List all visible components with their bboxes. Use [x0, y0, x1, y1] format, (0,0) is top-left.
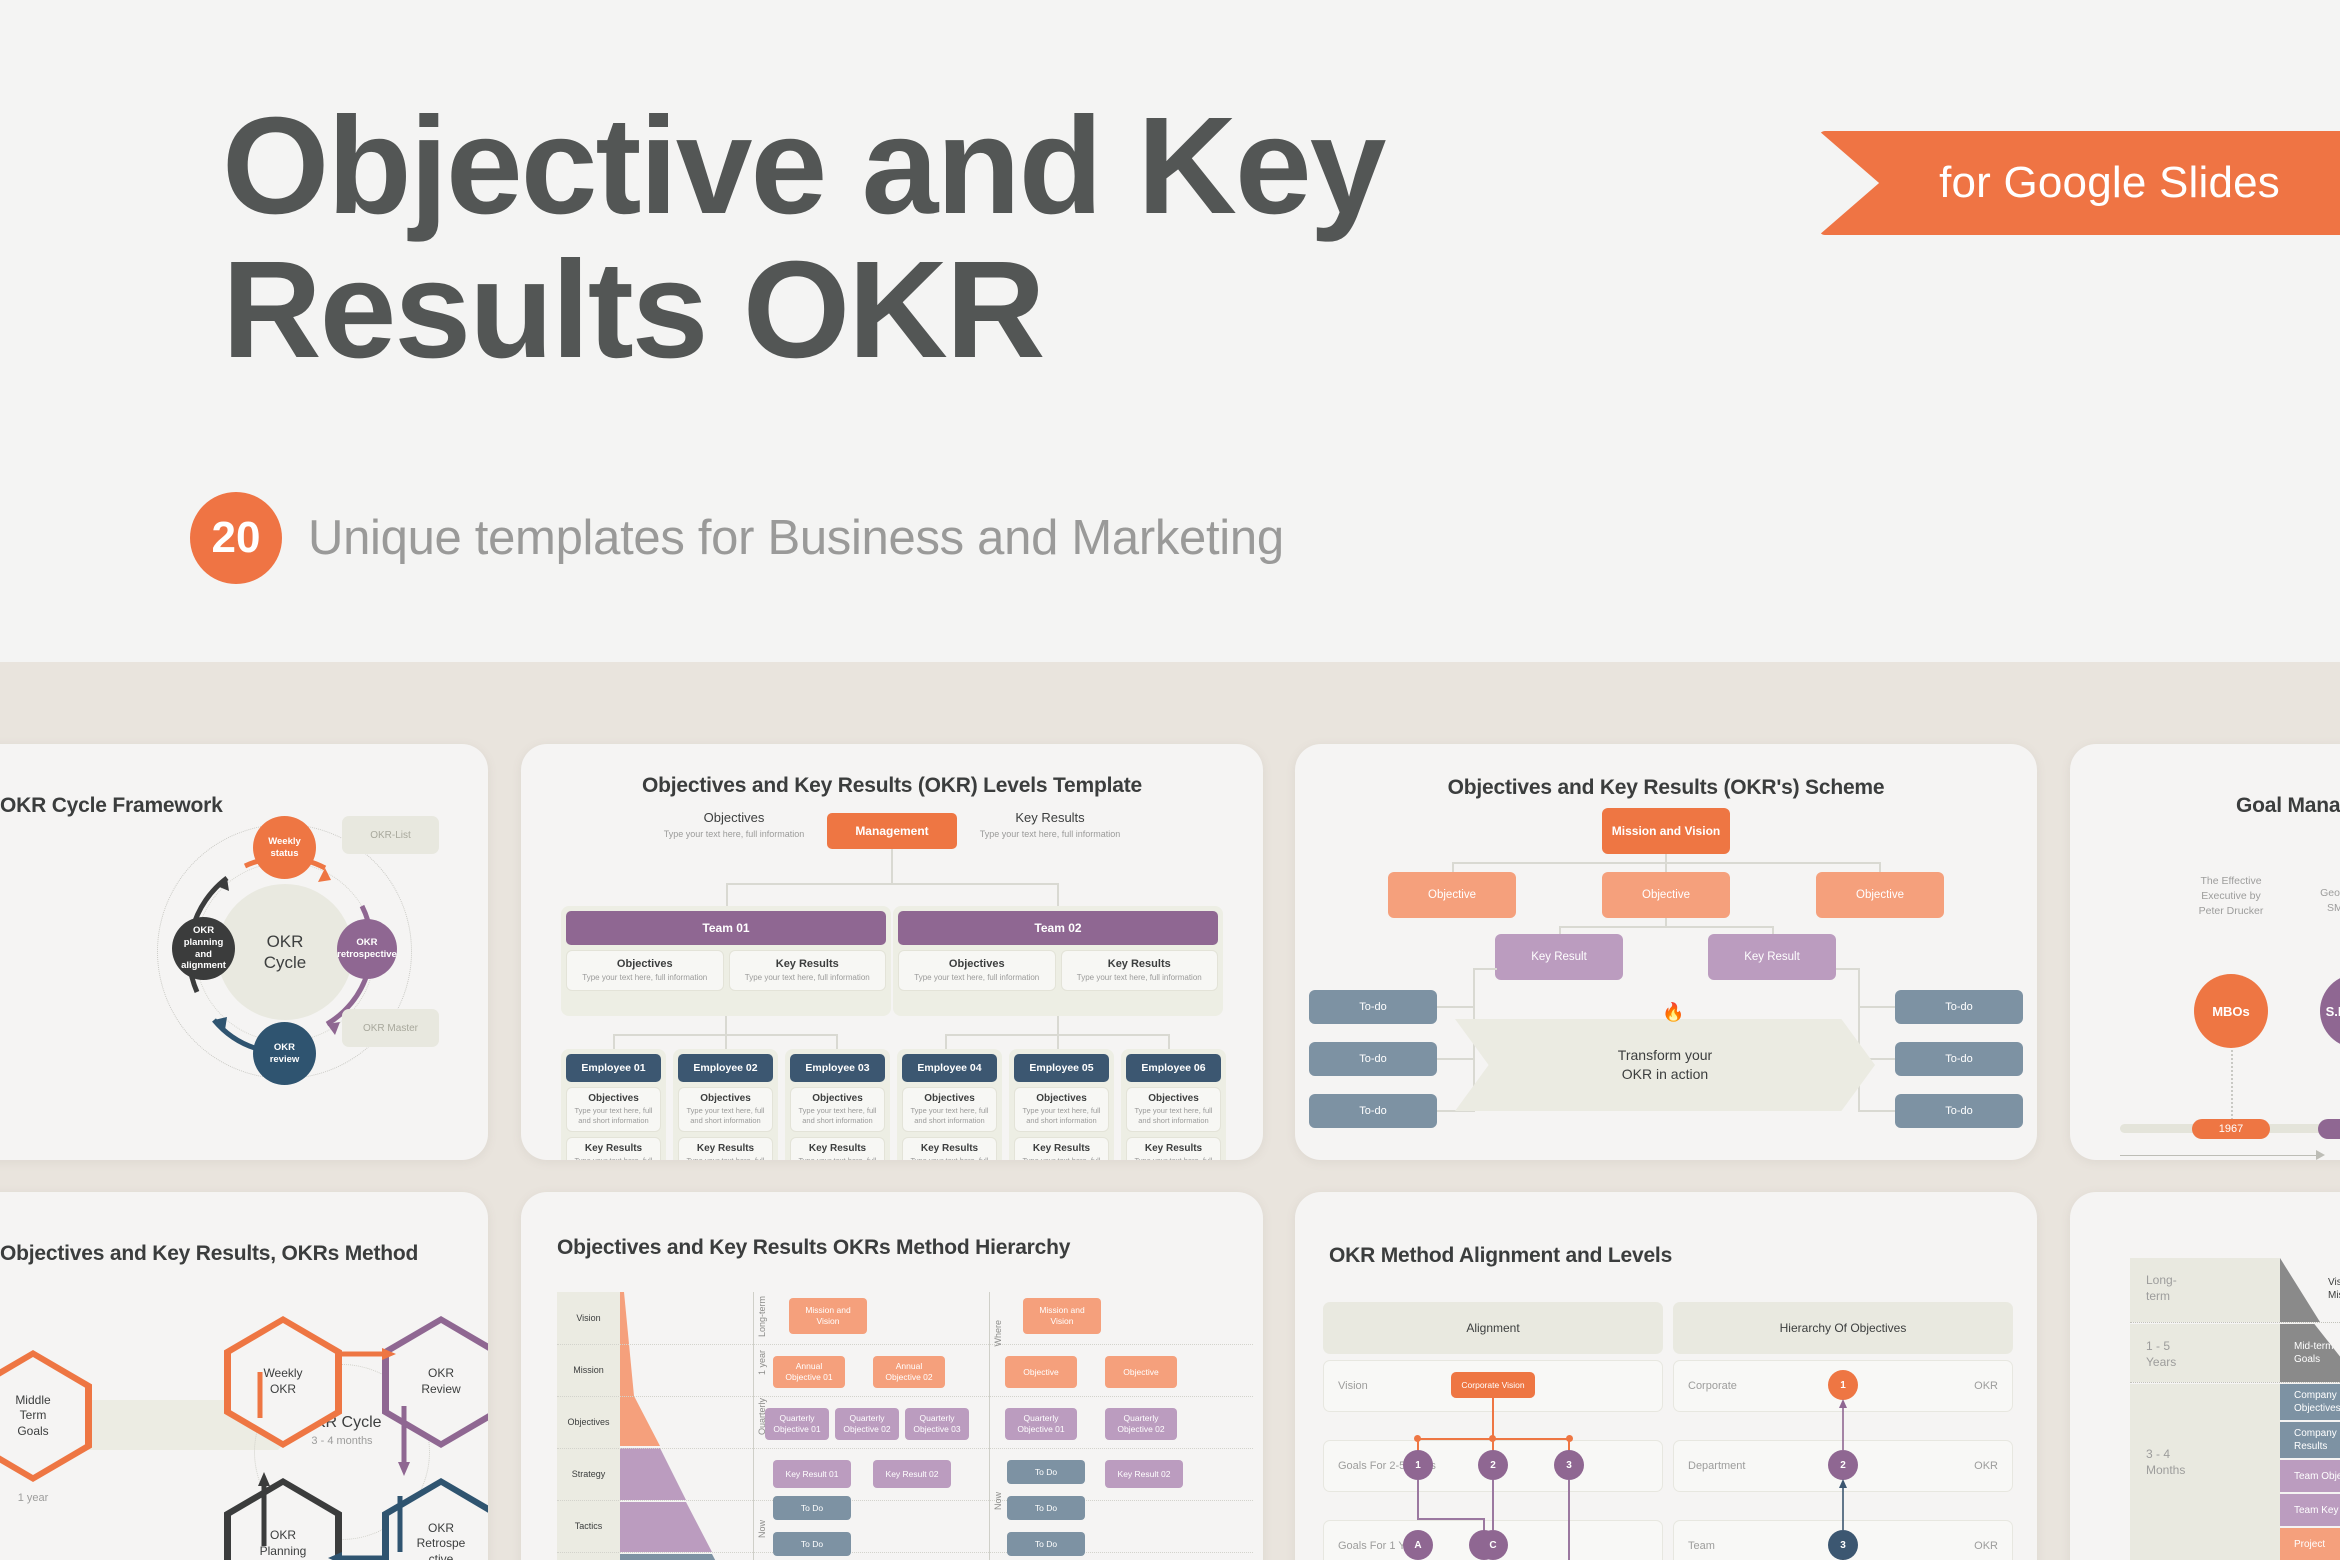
cycle-arrows	[214, 1310, 454, 1560]
team-cell: Objectives Type your text here, full inf…	[566, 950, 724, 991]
pyramid-timeframe-1-5-years: 1 - 5Years	[2130, 1324, 2280, 1382]
axis-right	[989, 1292, 990, 1560]
employee-block[interactable]: Employee 04 ObjectivesType your text her…	[897, 1049, 1002, 1160]
connector-line	[1879, 862, 1881, 872]
cell-sub: Type your text here, full and short info…	[795, 1106, 880, 1126]
connector-line	[1057, 1016, 1059, 1034]
side-heading: Objectives	[639, 810, 829, 825]
node-todo-left-2[interactable]: To-do	[1309, 1042, 1437, 1076]
employee-cell-objectives: ObjectivesType your text here, full and …	[566, 1087, 661, 1132]
employee-cell-key-results: Key ResultsType your text here, full and…	[678, 1137, 773, 1161]
subtitle-row: 20 Unique templates for Business and Mar…	[190, 492, 1284, 584]
employee-cell-key-results: Key ResultsType your text here, full and…	[566, 1137, 661, 1161]
connector-line	[891, 849, 893, 883]
cycle-node-weekly-status[interactable]: Weeklystatus	[253, 816, 316, 879]
connector-line	[725, 1034, 727, 1049]
connector-line	[1057, 1034, 1059, 1049]
slide-card-goal-management-history[interactable]: Goal Management History and Timeline The…	[2070, 744, 2340, 1160]
employee-header: Employee 06	[1126, 1054, 1221, 1082]
slide-card-okrs-method[interactable]: Objectives and Key Results, OKRs Method …	[0, 1192, 488, 1560]
pyramid-timeframe-3-4-months: 3 - 4Months	[2130, 1384, 2280, 1560]
subtitle-text: Unique templates for Business and Market…	[308, 510, 1284, 566]
node-key-result-02-b[interactable]: Key Result 02	[1105, 1460, 1183, 1488]
cell-sub: Type your text here, full information	[734, 973, 882, 983]
cell-heading: Objectives	[1131, 1093, 1216, 1104]
node-todo-b-3[interactable]: To Do	[1007, 1532, 1085, 1556]
connector-line	[1492, 1480, 1494, 1530]
cell-heading: Objectives	[1019, 1093, 1104, 1104]
row-tag: OKR	[1974, 1460, 1998, 1472]
card-title: Goal Management History and Timeline	[2236, 794, 2340, 818]
hierarchy-level-tactics: Tactics	[557, 1500, 620, 1552]
node-key-result-1[interactable]: Key Result	[1495, 934, 1623, 980]
axis-left	[753, 1292, 754, 1560]
node-objective-b-2[interactable]: Objective	[1105, 1356, 1177, 1388]
node-corporate-vision[interactable]: Corporate Vision	[1451, 1372, 1535, 1398]
employee-header: Employee 03	[790, 1054, 885, 1082]
history-bubble-mbos[interactable]: MBOs	[2194, 974, 2268, 1048]
connector-line	[725, 1016, 727, 1034]
pyramid-band-team-objectives: Team Objectives	[2280, 1460, 2340, 1492]
history-caption-1: The EffectiveExecutive byPeter Drucker	[2176, 874, 2286, 920]
side-sub: Type your text here, full information	[955, 829, 1145, 839]
cell-heading: Objectives	[907, 1093, 992, 1104]
employee-block[interactable]: Employee 05 ObjectivesType your text her…	[1009, 1049, 1114, 1160]
timeline-year-1981: 1981	[2318, 1119, 2340, 1139]
connector-line	[1437, 1006, 1475, 1008]
connector-line	[726, 883, 1058, 885]
slide-card-okr-levels-template[interactable]: Objectives and Key Results (OKR) Levels …	[521, 744, 1263, 1160]
row-label: Department	[1688, 1460, 1745, 1472]
cell-heading: Key Results	[1066, 958, 1214, 970]
connector-line	[1858, 968, 1860, 1112]
arrow-right-icon	[2316, 1150, 2325, 1160]
team-cell: Key Results Type your text here, full in…	[729, 950, 887, 991]
card-title: Objectives and Key Results (OKR's) Schem…	[1295, 776, 2037, 800]
node-annual-objective-02[interactable]: AnnualObjective 02	[873, 1356, 945, 1388]
connector-line	[1772, 926, 1774, 934]
employee-header: Employee 05	[1014, 1054, 1109, 1082]
node-annual-objective-01[interactable]: AnnualObjective 01	[773, 1356, 845, 1388]
node-quarterly-objective-02-b[interactable]: QuarterlyObjective 02	[1105, 1408, 1177, 1440]
history-bubble-smart[interactable]: S.M.A.R.T.	[2320, 974, 2340, 1048]
page-title-line-1: Objective and Key	[222, 95, 1472, 239]
node-todo-b-1[interactable]: To Do	[1007, 1460, 1085, 1484]
page-title-line-2: Results OKR	[222, 239, 1472, 383]
cell-sub: Type your text here, full and short info…	[1131, 1106, 1216, 1126]
year-node-a[interactable]: A	[1403, 1530, 1433, 1560]
hierarchy-arrows	[1835, 1392, 1855, 1560]
employee-cell-key-results: Key ResultsType your text here, full and…	[1126, 1137, 1221, 1161]
cell-sub: Type your text here, full and short info…	[571, 1106, 656, 1126]
employee-header: Employee 02	[678, 1054, 773, 1082]
cell-heading: Key Results	[1131, 1143, 1216, 1154]
node-quarterly-objective-01-b[interactable]: QuarterlyObjective 01	[1005, 1408, 1077, 1440]
node-todo-left-1[interactable]: To-do	[1309, 990, 1437, 1024]
team-header: Team 02	[898, 911, 1218, 945]
google-slides-ribbon-badge: for Google Slides	[1819, 131, 2340, 235]
template-gallery: OKR Cycle Framework Mid-term goals1 year…	[0, 662, 2340, 1560]
connector-line	[1417, 1518, 1485, 1520]
node-objective-b-1[interactable]: Objective	[1005, 1356, 1077, 1388]
cell-heading: Objectives	[683, 1093, 768, 1104]
divider	[557, 1448, 1253, 1449]
node-todo-left-3[interactable]: To-do	[1309, 1094, 1437, 1128]
cycle-node-okr-retrospective[interactable]: OKRretrospective	[337, 919, 397, 979]
connector-line	[1168, 1034, 1170, 1049]
cell-sub: Type your text here, full and short info…	[1131, 1156, 1216, 1161]
node-objective-1[interactable]: Objective	[1388, 872, 1516, 918]
cell-heading: Key Results	[1019, 1143, 1104, 1154]
connector-line	[1858, 1006, 1896, 1008]
side-label-key-results: Key Results Type your text here, full in…	[955, 810, 1145, 839]
node-todo-right-1[interactable]: To-do	[1895, 990, 2023, 1024]
cell-heading: Key Results	[795, 1143, 880, 1154]
cell-sub: Type your text here, full and short info…	[907, 1106, 992, 1126]
card-title: OKR Method Alignment and Levels	[1329, 1244, 1672, 1268]
employee-cell-objectives: ObjectivesType your text here, full and …	[790, 1087, 885, 1132]
divider	[2130, 1322, 2340, 1323]
hierarchy-level-strategy: Strategy	[557, 1448, 620, 1500]
ribbon-label: for Google Slides	[1939, 158, 2280, 208]
node-todo-a-2[interactable]: To Do	[773, 1532, 851, 1556]
node-key-result-02-a[interactable]: Key Result 02	[873, 1460, 951, 1488]
employee-block[interactable]: Employee 02 ObjectivesType your text her…	[673, 1049, 778, 1160]
side-label-objectives: Objectives Type your text here, full inf…	[639, 810, 829, 839]
node-quarterly-objective-01-a[interactable]: QuarterlyObjective 01	[765, 1408, 829, 1440]
employee-cell-objectives: ObjectivesType your text here, full and …	[1014, 1087, 1109, 1132]
cell-sub: Type your text here, full and short info…	[683, 1106, 768, 1126]
connector-line	[836, 1034, 838, 1049]
connector-dotted	[2231, 1050, 2233, 1128]
connector-line	[1665, 918, 1667, 926]
pyramid-timeframe-long-term: Long-term	[2130, 1258, 2280, 1322]
node-todo-right-3[interactable]: To-do	[1895, 1094, 2023, 1128]
pyramid-band-company-key-results: Company KeyResults	[2280, 1422, 2340, 1458]
cell-heading: Objectives	[903, 958, 1051, 970]
cell-heading: Objectives	[795, 1093, 880, 1104]
cell-sub: Type your text here, full and short info…	[907, 1156, 992, 1161]
hierarchy-level-vision: Vision	[557, 1292, 620, 1344]
team-cell: Objectives Type your text here, full inf…	[898, 950, 1056, 991]
hierarchy-level-objectives: Objectives	[557, 1396, 620, 1448]
node-mission-and-vision[interactable]: Mission and Vision	[1602, 808, 1730, 854]
team-header: Team 01	[566, 911, 886, 945]
connector-line	[1417, 1480, 1419, 1520]
connector-line	[726, 883, 728, 907]
employee-header: Employee 01	[566, 1054, 661, 1082]
connector-line	[1665, 854, 1667, 862]
cell-heading: Key Results	[571, 1143, 656, 1154]
row-tag: OKR	[1974, 1540, 1998, 1552]
tag-okr-list: OKR-List	[342, 816, 439, 854]
hierarchy-level-mission: Mission	[557, 1344, 620, 1396]
cell-sub: Type your text here, full and short info…	[1019, 1156, 1104, 1161]
column-header-hierarchy: Hierarchy Of Objectives	[1673, 1302, 2013, 1354]
template-count-value: 20	[212, 513, 261, 563]
connector-line	[1836, 968, 1860, 970]
cell-heading: Objectives	[571, 1093, 656, 1104]
divider	[557, 1396, 1253, 1397]
cell-sub: Type your text here, full and short info…	[795, 1156, 880, 1161]
axis-label-1-year: 1 year	[757, 1350, 767, 1375]
node-key-result-01-a[interactable]: Key Result 01	[773, 1460, 851, 1488]
cell-heading: Key Results	[683, 1143, 768, 1154]
employee-cell-key-results: Key ResultsType your text here, full and…	[790, 1137, 885, 1161]
slide-card-pyramid-timeframes[interactable]: Long-term 1 - 5Years 3 - 4Months Vision …	[2070, 1192, 2340, 1560]
node-mission-vision-b[interactable]: Mission andVision	[1023, 1298, 1101, 1334]
pyramid-band-vision-mission-shape	[2280, 1258, 2320, 1322]
connector-line	[945, 1034, 947, 1049]
connector-line	[1559, 926, 1561, 934]
employee-header: Employee 04	[902, 1054, 997, 1082]
team-cell: Key Results Type your text here, full in…	[1061, 950, 1219, 991]
axis-label-now: Now	[993, 1492, 1003, 1510]
cell-sub: Type your text here, full and short info…	[571, 1156, 656, 1161]
connector-line	[1057, 883, 1059, 907]
side-heading: Key Results	[955, 810, 1145, 825]
connector-line	[1437, 1058, 1475, 1060]
row-label: Team	[1688, 1540, 1715, 1552]
employee-block[interactable]: Employee 01 ObjectivesType your text her…	[561, 1049, 666, 1160]
cell-sub: Type your text here, full information	[903, 973, 1051, 983]
connector-line	[1665, 862, 1667, 872]
team-block[interactable]: Team 02 Objectives Type your text here, …	[893, 906, 1223, 1016]
hex-middle-term-goals[interactable]: MiddleTermGoals	[0, 1350, 92, 1482]
year-node-c[interactable]: C	[1478, 1530, 1508, 1560]
pyramid-band-label-vision-mission: Vision andMission	[2328, 1276, 2340, 1302]
goal-node-3[interactable]: 3	[1554, 1450, 1584, 1480]
row-tag: OKR	[1974, 1380, 1998, 1392]
pyramid-band-team-key-results: Team Key Results	[2280, 1494, 2340, 1526]
connector-line	[1492, 1398, 1494, 1438]
node-mission-vision-a[interactable]: Mission andVision	[789, 1298, 867, 1334]
employee-cell-objectives: ObjectivesType your text here, full and …	[902, 1087, 997, 1132]
employee-cell-key-results: Key ResultsType your text here, full and…	[902, 1137, 997, 1161]
card-title: Objectives and Key Results OKRs Method H…	[557, 1236, 1070, 1260]
divider	[557, 1552, 1253, 1553]
employee-cell-objectives: ObjectivesType your text here, full and …	[678, 1087, 773, 1132]
node-quarterly-objective-02-a[interactable]: QuarterlyObjective 02	[835, 1408, 899, 1440]
node-todo-a-1[interactable]: To Do	[773, 1496, 851, 1520]
timeline-direction-line	[2120, 1155, 2320, 1156]
cycle-node-okr-planning[interactable]: OKRplanningandalignment	[172, 917, 235, 980]
slide-card-alignment-levels[interactable]: OKR Method Alignment and Levels Alignmen…	[1295, 1192, 2037, 1560]
divider	[2130, 1382, 2340, 1383]
employee-block[interactable]: Employee 06 ObjectivesType your text her…	[1121, 1049, 1226, 1160]
node-management[interactable]: Management	[827, 813, 957, 849]
flame-icon: 🔥	[1662, 1002, 1684, 1023]
connector-line	[613, 1034, 615, 1049]
hierarchy-triangle	[620, 1292, 750, 1560]
template-count-badge: 20	[190, 492, 282, 584]
hero-section: Objective and Key Results OKR for Google…	[0, 0, 2340, 662]
divider	[557, 1344, 1253, 1345]
timeline-year-1967: 1967	[2192, 1119, 2270, 1139]
node-quarterly-objective-03-a[interactable]: QuarterlyObjective 03	[905, 1408, 969, 1440]
connector-line	[1559, 926, 1773, 928]
cell-heading: Objectives	[571, 958, 719, 970]
transform-banner: Transform yourOKR in action	[1455, 1019, 1875, 1111]
cell-heading: Key Results	[734, 958, 882, 970]
cell-sub: Type your text here, full information	[1066, 973, 1214, 983]
connector-line	[1568, 1480, 1570, 1560]
slide-card-okr-scheme[interactable]: Objectives and Key Results (OKR's) Schem…	[1295, 744, 2037, 1160]
pyramid-band-mid-term-goals: Mid-termGoals	[2280, 1324, 2340, 1382]
goal-node-1[interactable]: 1	[1403, 1450, 1433, 1480]
pyramid-band-company-objectives: CompanyObjectives	[2280, 1384, 2340, 1420]
divider	[557, 1500, 1253, 1501]
axis-label-where: Where	[993, 1320, 1003, 1347]
card-title: OKR Cycle Framework	[0, 794, 223, 818]
middle-term-sub: 1 year	[0, 1492, 92, 1504]
cycle-core-label: OKRCycle	[217, 884, 353, 1020]
employee-block[interactable]: Employee 03 ObjectivesType your text her…	[785, 1049, 890, 1160]
cell-heading: Key Results	[907, 1143, 992, 1154]
node-objective-2[interactable]: Objective	[1602, 872, 1730, 918]
tag-okr-master: OKR Master	[342, 1009, 439, 1047]
pyramid-band-project: Project	[2280, 1528, 2340, 1560]
axis-label-now: Now	[757, 1520, 767, 1538]
slide-card-okr-cycle-framework[interactable]: OKR Cycle Framework Mid-term goals1 year…	[0, 744, 488, 1160]
row-label: Vision	[1338, 1380, 1368, 1392]
node-key-result-2[interactable]: Key Result	[1708, 934, 1836, 980]
cell-sub: Type your text here, full and short info…	[1019, 1106, 1104, 1126]
connector-line	[1452, 862, 1454, 872]
team-block[interactable]: Team 01 Objectives Type your text here, …	[561, 906, 891, 1016]
node-todo-b-2[interactable]: To Do	[1007, 1496, 1085, 1520]
node-objective-3[interactable]: Objective	[1816, 872, 1944, 918]
cell-sub: Type your text here, full information	[571, 973, 719, 983]
page-title: Objective and Key Results OKR	[222, 95, 1472, 382]
goal-node-2[interactable]: 2	[1478, 1450, 1508, 1480]
hierarchy-level-action-plan: Action plan	[557, 1552, 620, 1560]
axis-label-long-term: Long-term	[757, 1296, 767, 1337]
column-header-alignment: Alignment	[1323, 1302, 1663, 1354]
card-title: Objectives and Key Results, OKRs Method	[0, 1242, 418, 1266]
node-todo-right-2[interactable]: To-do	[1895, 1042, 2023, 1076]
employee-cell-key-results: Key ResultsType your text here, full and…	[1014, 1137, 1109, 1161]
slide-card-method-hierarchy[interactable]: Objectives and Key Results OKRs Method H…	[521, 1192, 1263, 1560]
employee-cell-objectives: ObjectivesType your text here, full and …	[1126, 1087, 1221, 1132]
cell-sub: Type your text here, full and short info…	[683, 1156, 768, 1161]
connector-line	[1473, 968, 1497, 970]
cycle-node-okr-review[interactable]: OKRreview	[253, 1022, 316, 1085]
row-label: Corporate	[1688, 1380, 1737, 1392]
history-caption-2: George Doran'sSMART Way	[2302, 886, 2340, 916]
side-sub: Type your text here, full information	[639, 829, 829, 839]
connector-line	[1858, 1110, 1896, 1112]
card-title: Objectives and Key Results (OKR) Levels …	[521, 774, 1263, 798]
